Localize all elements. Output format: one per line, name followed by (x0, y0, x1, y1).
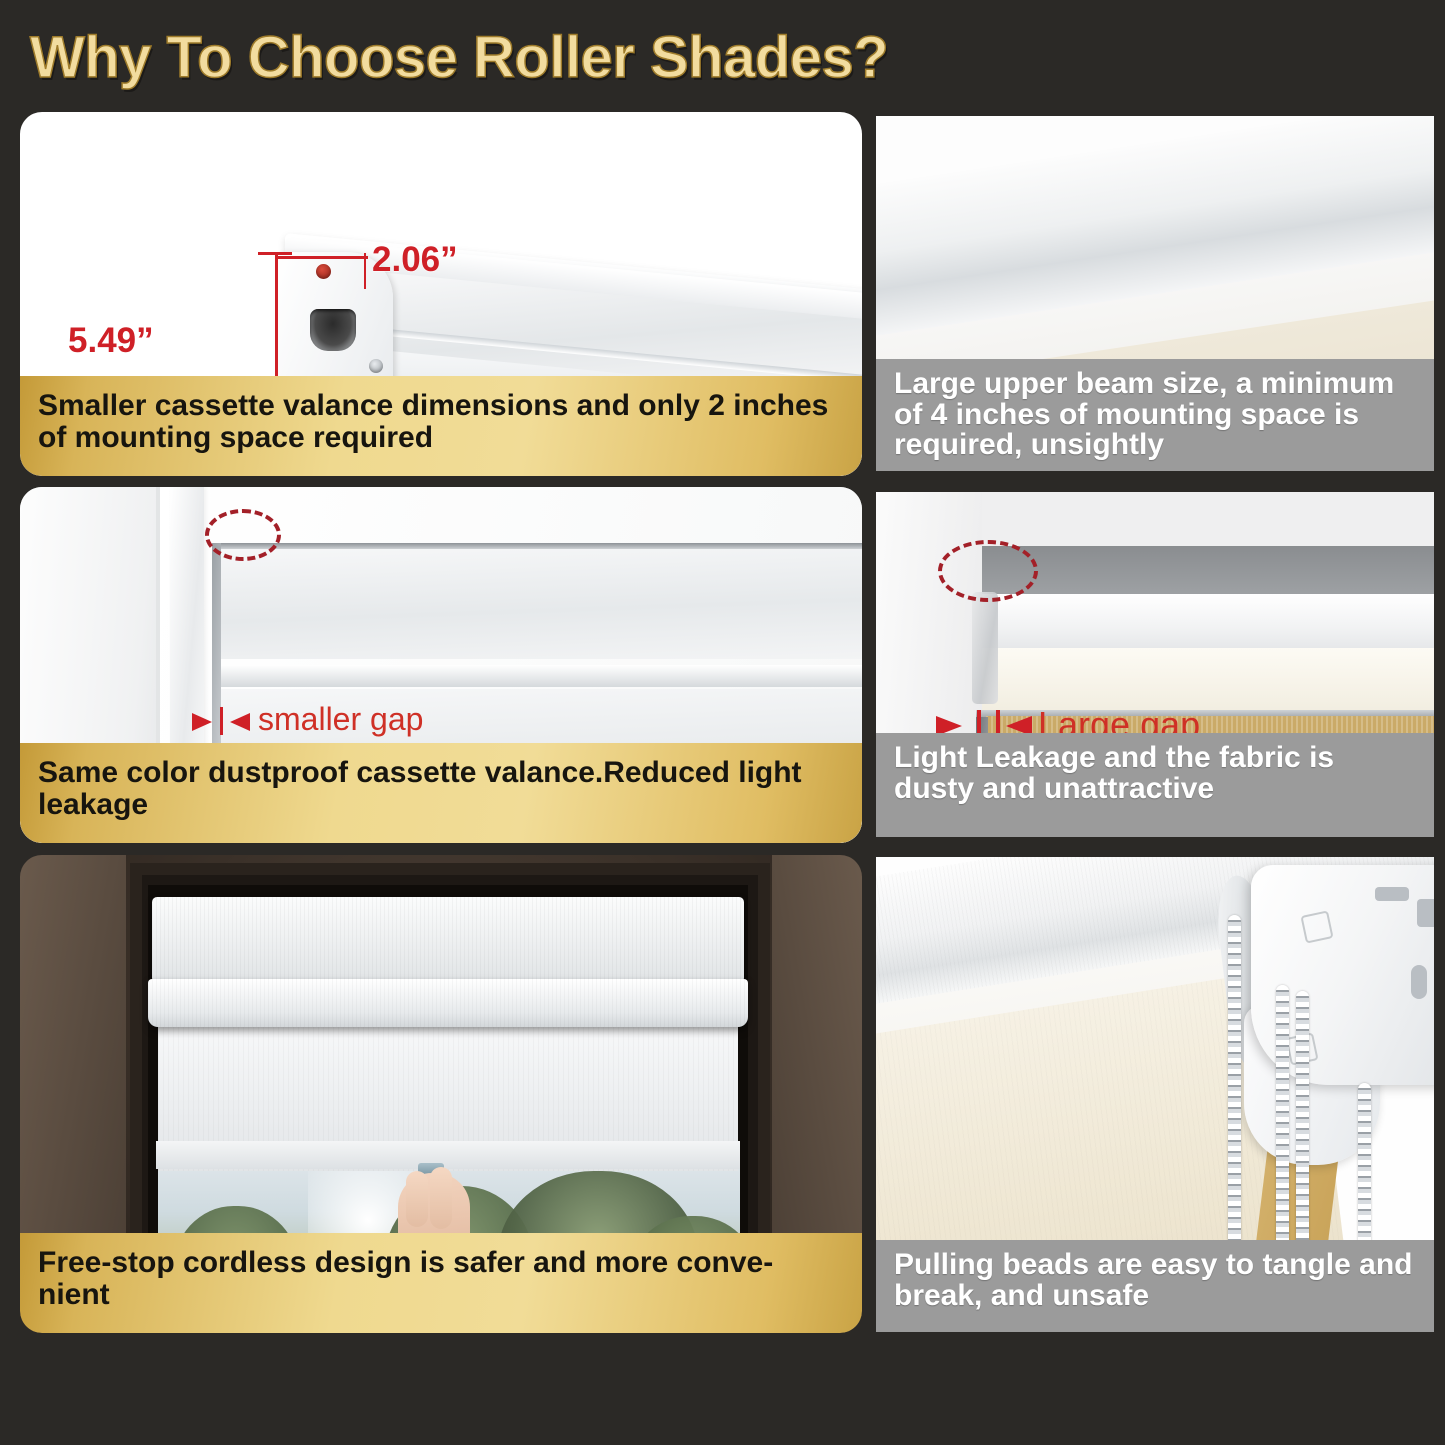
dimension-label-width: 2.06” (372, 240, 458, 280)
panel-dustproof-cassette-valance: smaller gap Same color dustproof cassett… (20, 487, 862, 843)
roller-shade-hem (156, 1141, 740, 1169)
mounting-clip (972, 592, 998, 704)
bead-bracket-emboss-icon (1300, 910, 1333, 943)
caption-line-1: Free-stop cordless design is safer and m… (38, 1246, 773, 1279)
finger-1 (406, 1171, 428, 1227)
cassette-valance-lip (148, 979, 748, 1027)
panel-pulling-beads: Pulling beads are easy to tangle and bre… (876, 857, 1434, 1332)
gap-label-smaller: smaller gap (258, 701, 423, 738)
highlight-ellipse-top-seam (205, 509, 281, 561)
finger-2 (430, 1167, 452, 1229)
caption-large-upper-beam: Large upper beam size, a minimum of 4 in… (876, 359, 1434, 471)
gap-marker-line (220, 707, 223, 735)
dim-line-width (276, 256, 368, 259)
caption-light-leakage: Light Leakage and the fabric is dusty an… (876, 733, 1434, 837)
top-gap-seam (218, 543, 862, 549)
valance-face-upper (220, 549, 862, 659)
cassette-valance-head (152, 897, 744, 983)
panel-large-upper-beam: 4.00” 4.00” Large upper beam size, a min… (876, 116, 1434, 471)
bead-bracket-slot-2 (1417, 899, 1434, 927)
valance-cap-slot (310, 309, 356, 351)
bead-bracket-slot-3 (1411, 965, 1427, 999)
valance-divider (220, 665, 862, 687)
panel-light-leakage: Large gap Light Leakage and the fabric i… (876, 492, 1434, 837)
gap-arrow-left-icon (192, 713, 212, 731)
bead-bracket-slot-1 (1375, 887, 1409, 901)
panel-cassette-valance-dimensions: 2.06” 5.49” Smaller cassette valance dim… (20, 112, 862, 476)
valance-screw-mid (369, 359, 383, 373)
gap-arrow-right-icon (230, 713, 250, 731)
caption-pulling-beads: Pulling beads are easy to tangle and bre… (876, 1240, 1434, 1332)
caption-line-2: nient (38, 1278, 110, 1311)
beam-shadow-band (982, 546, 1434, 598)
caption-free-stop-cordless: Free-stop cordless design is safer and m… (20, 1233, 862, 1333)
caption-dustproof-cassette-valance: Same color dustproof cassette valance.Re… (20, 743, 862, 843)
valance-screw-upper (316, 264, 331, 279)
beam-white-band (982, 594, 1434, 652)
dimension-label-height: 5.49” (68, 321, 154, 361)
page-title: Why To Choose Roller Shades? (30, 24, 888, 91)
dim-tick-height-top (258, 252, 292, 255)
title-bar: Why To Choose Roller Shades? (0, 0, 1445, 110)
panel-free-stop-cordless: Free-stop cordless design is safer and m… (20, 855, 862, 1333)
beam-cream-band (982, 648, 1434, 710)
caption-cassette-valance-dimensions: Smaller cassette valance dimensions and … (20, 376, 862, 476)
highlight-ellipse-bracket (938, 540, 1038, 602)
